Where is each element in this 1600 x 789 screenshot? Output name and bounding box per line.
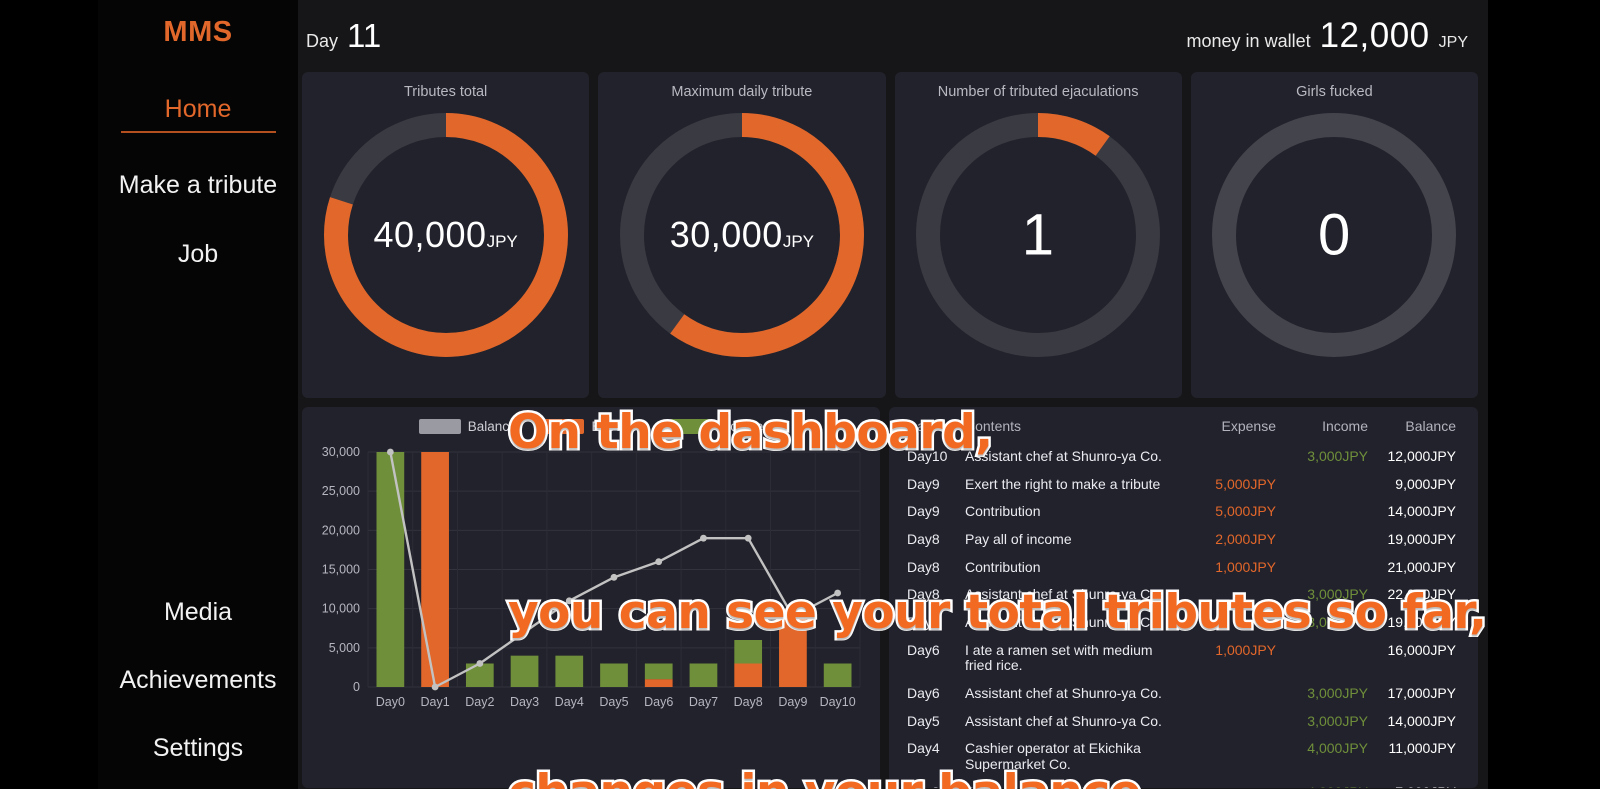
caption-line-3: changes in your balance, xyxy=(508,763,1487,789)
stat-value: 30,000 xyxy=(670,214,783,256)
sidebar-item-home-label: Home xyxy=(165,95,232,123)
sidebar-item-media[interactable]: Media xyxy=(98,594,298,631)
stat-card-title: Tributes total xyxy=(404,84,487,100)
sidebar-item-achievements[interactable]: Achievements xyxy=(98,662,298,699)
sidebar-item-job[interactable]: Job xyxy=(98,236,298,273)
main-content: Day 11 money in wallet 12,000 JPY Tribut… xyxy=(298,0,1488,789)
caption-line-2: you can see your total tributes so far, xyxy=(508,583,1487,643)
stat-value: 40,000 xyxy=(373,214,486,256)
svg-text:Day1: Day1 xyxy=(420,695,449,709)
left-gutter xyxy=(0,0,98,789)
legend-swatch-balance xyxy=(419,419,461,434)
donut-center-label: 30,000 JPY xyxy=(614,214,870,256)
wallet-label: money in wallet xyxy=(1187,31,1311,52)
app-logo: MMS xyxy=(163,16,232,49)
svg-text:30,000: 30,000 xyxy=(322,445,360,459)
wallet-indicator: money in wallet 12,000 JPY xyxy=(1187,16,1468,56)
stat-unit: JPY xyxy=(487,232,518,252)
svg-text:Day0: Day0 xyxy=(376,695,405,709)
stat-card-title: Girls fucked xyxy=(1296,84,1373,100)
stat-card-title: Number of tributed ejaculations xyxy=(938,84,1139,100)
svg-text:15,000: 15,000 xyxy=(322,563,360,577)
day-label: Day xyxy=(306,31,338,52)
topbar: Day 11 money in wallet 12,000 JPY xyxy=(298,0,1488,72)
svg-text:Day2: Day2 xyxy=(465,695,494,709)
sidebar: MMS Home Make a tribute Job Media Achiev… xyxy=(98,0,298,789)
svg-text:20,000: 20,000 xyxy=(322,523,360,537)
sidebar-item-home[interactable]: Home xyxy=(98,91,298,137)
stat-value: 1 xyxy=(1022,202,1055,269)
stat-card-title: Maximum daily tribute xyxy=(671,84,812,100)
wallet-value: 12,000 xyxy=(1320,16,1430,56)
day-value: 11 xyxy=(347,17,381,55)
stat-value: 0 xyxy=(1318,202,1351,269)
svg-text:0: 0 xyxy=(353,680,360,694)
wallet-currency: JPY xyxy=(1439,34,1468,52)
donut-center-label: 40,000 JPY xyxy=(318,214,574,256)
svg-text:25,000: 25,000 xyxy=(322,484,360,498)
sidebar-item-make-a-tribute[interactable]: Make a tribute xyxy=(98,167,298,204)
donut-center-label: 0 xyxy=(1206,202,1462,269)
caption-line-1: On the dashboard, xyxy=(508,403,1487,463)
svg-text:5,000: 5,000 xyxy=(329,641,360,655)
app-root: MMS Home Make a tribute Job Media Achiev… xyxy=(0,0,1600,789)
stat-unit: JPY xyxy=(783,232,814,252)
svg-text:10,000: 10,000 xyxy=(322,602,360,616)
tutorial-caption-overlay: On the dashboard, you can see your total… xyxy=(508,283,1487,789)
legend-item-balance: Balance xyxy=(419,419,517,434)
sidebar-active-underline xyxy=(121,131,276,133)
donut-center-label: 1 xyxy=(910,202,1166,269)
right-gutter xyxy=(1488,0,1600,789)
day-counter: Day 11 xyxy=(306,17,381,55)
sidebar-item-settings[interactable]: Settings xyxy=(98,730,298,767)
